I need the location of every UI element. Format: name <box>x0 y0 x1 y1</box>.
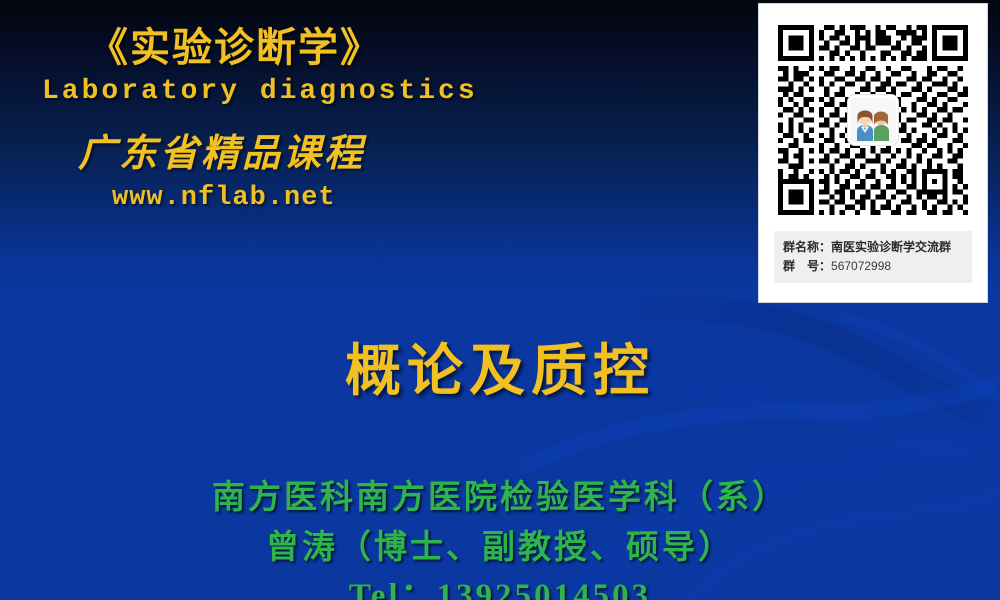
presenter-name: 曾涛（博士、副教授、硕导） <box>0 524 1000 574</box>
group-avatar-icon <box>848 95 898 145</box>
group-number-value: 567072998 <box>831 259 891 273</box>
group-name-row: 群名称：南医实验诊断学交流群 <box>783 238 963 257</box>
course-title-english: Laboratory diagnostics <box>0 71 700 113</box>
presenter-contact: Tel：13925014503 <box>0 573 1000 600</box>
group-number-row: 群 号：567072998 <box>783 257 963 276</box>
qr-code-panel[interactable]: 群名称：南医实验诊断学交流群 群 号：567072998 <box>758 3 988 303</box>
group-name-label: 群名称： <box>783 240 831 254</box>
header-text-block: 《实验诊断学》 Laboratory diagnostics 广东省精品课程 w… <box>0 24 700 218</box>
website-url: www.nflab.net <box>0 179 700 218</box>
qr-code-image[interactable] <box>778 25 968 215</box>
course-title-chinese: 《实验诊断学》 <box>0 24 700 71</box>
qr-group-info-caption: 群名称：南医实验诊断学交流群 群 号：567072998 <box>774 231 972 283</box>
group-number-label: 群 号： <box>783 259 831 273</box>
presenter-department: 南方医科南方医院检验医学科（系） <box>0 474 1000 524</box>
group-avatar-svg <box>850 97 896 143</box>
course-quality-badge: 广东省精品课程 <box>0 113 700 179</box>
group-name-value: 南医实验诊断学交流群 <box>831 240 951 254</box>
presenter-block: 南方医科南方医院检验医学科（系） 曾涛（博士、副教授、硕导） Tel：13925… <box>0 474 1000 600</box>
presentation-slide: 《实验诊断学》 Laboratory diagnostics 广东省精品课程 w… <box>0 0 1000 600</box>
page-title: 概论及质控 <box>0 326 1000 407</box>
